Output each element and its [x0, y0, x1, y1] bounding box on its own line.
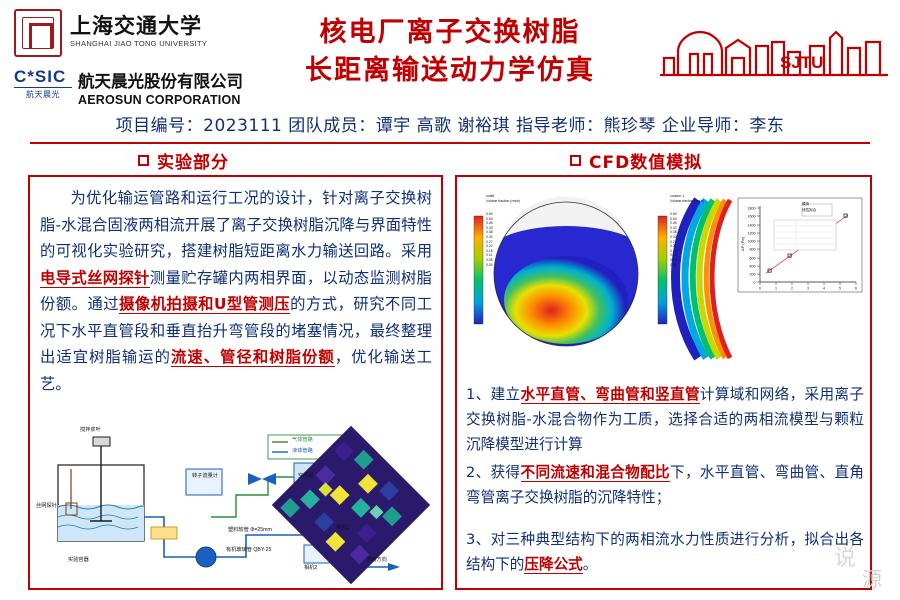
legend-tick-label: 0.01: [670, 263, 677, 268]
svg-text:3: 3: [807, 287, 809, 291]
label-camera-1: 相机1: [336, 525, 349, 531]
project-info-bar: 项目编号：2023111 团队成员：谭宇 高歌 谢裕琪 指导老师：熊珍琴 企业导…: [0, 112, 900, 142]
svg-text:1800: 1800: [748, 207, 756, 211]
sjtu-skyline-icon: SJTU: [660, 18, 890, 78]
label-flow-direction: 流动方向: [366, 557, 387, 563]
svg-text:600: 600: [750, 257, 756, 261]
square-bullet-icon: [570, 155, 581, 166]
svg-text:200: 200: [750, 273, 756, 277]
label-acrylic-tube: 有机玻璃管 QBY-25: [226, 547, 271, 553]
cfd-item-3: 3、对三种典型结构下的两相流水力性质进行分析，拟合出各结构下的压降公式。: [466, 527, 864, 577]
sjtu-logo: 上海交通大学 SHANGHAI JIAO TONG UNIVERSITY: [14, 6, 246, 60]
inset-legend-series-2: 线性拟合: [802, 208, 816, 213]
text-run: 1、建立: [466, 386, 521, 403]
sjtu-seal-icon: [14, 9, 62, 57]
highlight-run: 压降公式: [524, 556, 582, 574]
cfd-item-1: 1、建立水平直管、弯曲管和竖直管计算域和网络，采用离子交换树脂-水混合物作为工质…: [466, 382, 864, 457]
label-vessel: 实验容器: [68, 557, 89, 563]
label-compressor: 空压机: [298, 473, 314, 479]
svg-text:1200: 1200: [748, 232, 756, 236]
title-line-1: 核电厂离子交换树脂: [250, 14, 650, 52]
svg-text:800: 800: [750, 248, 756, 252]
poster-header: 上海交通大学 SHANGHAI JIAO TONG UNIVERSITY C*S…: [0, 0, 900, 115]
section-title-cfd: CFD数值模拟: [589, 148, 702, 173]
label-gas-line: 气体管路: [292, 437, 313, 443]
watermark-text: 源: [862, 563, 882, 592]
cfd-item-2: 2、获得不同流速和混合物配比下，水平直管、弯曲管、直角弯管离子交换树脂的沉降特性…: [466, 460, 864, 510]
cfd-panel: 0 200 400 600 800 1000 1200 1400 1600 18…: [455, 175, 872, 590]
label-plastic-hose: 塑料软管 Φ=25mm: [228, 527, 272, 533]
svg-text:1000: 1000: [748, 240, 756, 244]
watermark-text-2: 说: [834, 540, 856, 572]
casic-mark-icon: C*SIC 航天晨光: [14, 68, 72, 112]
legend-tick-label: 0.32: [670, 235, 677, 240]
text-run: 为优化输运管路和运行工况的设计，针对离子交换树脂-水混合固液两相流开展了离子交换…: [40, 189, 432, 260]
cfd-legend-title-left: outlet Volume fraction (resin): [486, 194, 520, 203]
svg-text:0: 0: [754, 281, 756, 285]
legend-tick-label: 0.60: [486, 212, 493, 217]
title-line-2: 长距离输送动力学仿真: [250, 52, 650, 90]
section-header-experiment: 实验部分: [138, 148, 229, 172]
highlight-run: 水平直管、弯曲管和竖直管: [521, 386, 700, 404]
cfd-contour-image: 0 200 400 600 800 1000 1200 1400 1600 18…: [462, 182, 867, 377]
inset-legend-series-1: 模拟: [802, 202, 809, 207]
label-rotameter: 转子流量计: [192, 473, 218, 479]
legend-tick-label: 0.32: [486, 235, 493, 240]
legend-tick-label: 0.60: [670, 212, 677, 217]
svg-text:5: 5: [839, 287, 841, 291]
project-info-text: 项目编号：2023111 团队成员：谭宇 高歌 谢裕琪 指导老师：熊珍琴 企业导…: [0, 112, 900, 140]
svg-text:400: 400: [750, 265, 756, 269]
cfd-legend-title-right: contour 1 Volume fraction (resin): [670, 194, 704, 203]
poster-title: 核电厂离子交换树脂 长距离输送动力学仿真: [250, 14, 650, 90]
svg-text:1400: 1400: [748, 224, 756, 228]
casic-name-cn: 航天晨光股份有限公司: [78, 73, 243, 92]
section-header-cfd: CFD数值模拟: [570, 148, 702, 172]
cfd-legend-values-left: 0.600.540.490.430.380.320.270.220.160.11…: [486, 212, 493, 267]
highlight-run: 不同流速和混合物配比: [521, 464, 671, 482]
legend-tick-label: 0.00: [486, 263, 493, 268]
text-run: 。: [583, 556, 598, 573]
svg-text:1600: 1600: [748, 215, 756, 219]
sjtu-text: 上海交通大学 SHANGHAI JIAO TONG UNIVERSITY: [70, 16, 207, 50]
svg-text:1: 1: [775, 287, 777, 291]
label-liquid-line: 液体管路: [292, 448, 313, 454]
svg-text:0: 0: [759, 287, 761, 291]
legend-tick-label: 0.07: [670, 258, 677, 263]
poster-root: 上海交通大学 SHANGHAI JIAO TONG UNIVERSITY C*S…: [0, 0, 900, 600]
sjtu-name-cn: 上海交通大学: [70, 16, 207, 38]
square-bullet-icon: [138, 155, 149, 166]
svg-text:4: 4: [823, 287, 825, 291]
legend-tick-label: 0.05: [486, 258, 493, 263]
experiment-apparatus-diagram: 搅拌浆叶 丝网探针 实验容器 气体管路 液体管路 转子流量计 空压机 塑料软管 …: [36, 417, 439, 585]
casic-name-en: AEROSUN CORPORATION: [78, 92, 243, 108]
highlight-run: 流速、管径和树脂份额: [171, 348, 335, 367]
svg-text:ΔP (Pa): ΔP (Pa): [740, 236, 745, 251]
label-camera-2: 相机2: [304, 565, 317, 571]
cfd-legend-values-right: 0.600.540.490.430.380.320.270.220.160.13…: [670, 212, 677, 267]
skyline-wordmark: SJTU: [780, 53, 823, 72]
experiment-panel: 为优化输运管路和运行工况的设计，针对离子交换树脂-水混合固液两相流开展了离子交换…: [28, 175, 443, 590]
highlight-run: 电导式丝网探针: [40, 269, 150, 288]
label-probe: 丝网探针: [36, 503, 57, 509]
svg-text:6: 6: [855, 287, 857, 291]
header-divider: [30, 142, 870, 144]
section-title-experiment: 实验部分: [157, 148, 229, 173]
casic-mark-sub: 航天晨光: [14, 87, 72, 100]
svg-text:2: 2: [791, 287, 793, 291]
highlight-run: 摄像机拍摄和U型管测压: [119, 295, 290, 314]
logo-group: 上海交通大学 SHANGHAI JIAO TONG UNIVERSITY C*S…: [14, 6, 246, 111]
text-run: 2、获得: [466, 464, 521, 481]
experiment-paragraph: 为优化输运管路和运行工况的设计，针对离子交换树脂-水混合固液两相流开展了离子交换…: [40, 185, 432, 397]
casic-mark-word: C*SIC: [14, 68, 72, 86]
casic-logo: C*SIC 航天晨光 航天晨光股份有限公司 AEROSUN CORPORATIO…: [14, 66, 254, 114]
label-stirrer: 搅拌浆叶: [80, 427, 101, 433]
sjtu-name-en: SHANGHAI JIAO TONG UNIVERSITY: [70, 38, 207, 50]
